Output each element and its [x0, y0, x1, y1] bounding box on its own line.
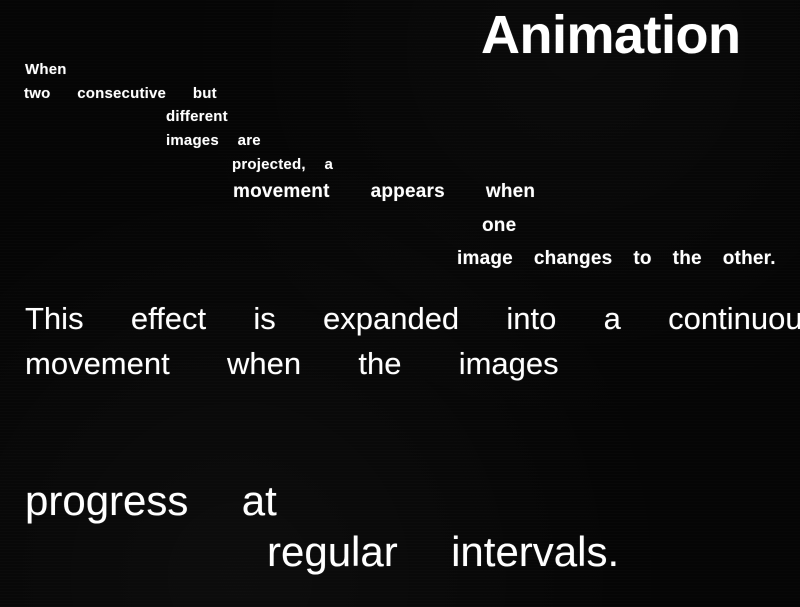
- text-line-image-changes-to-the-other: image changes to the other.: [457, 249, 776, 268]
- word-are: are: [238, 132, 261, 149]
- word-the: the: [673, 248, 702, 269]
- word-expanded: expanded: [323, 301, 459, 336]
- text-line-images-are: images are: [166, 133, 261, 148]
- text-line-regular-intervals: regular intervals.: [267, 531, 619, 573]
- word-when: when: [486, 181, 535, 202]
- word-at: at: [242, 477, 277, 524]
- word-projected: projected,: [232, 156, 306, 173]
- word-two: two: [24, 85, 50, 102]
- word-a: a: [324, 156, 333, 173]
- animation-slide: Animation When two consecutive but diffe…: [0, 0, 800, 607]
- word-progress: progress: [25, 477, 188, 524]
- word-consecutive: consecutive: [77, 85, 166, 102]
- word-different: different: [166, 108, 228, 125]
- word-appears: appears: [371, 181, 445, 202]
- page-title: Animation: [481, 8, 741, 62]
- text-line-progress-at: progress at: [25, 480, 277, 522]
- word-images: images: [166, 132, 219, 149]
- word-when: When: [25, 61, 67, 78]
- word-to: to: [633, 248, 651, 269]
- word-this: This: [25, 301, 84, 336]
- word-intervals: intervals.: [451, 528, 619, 575]
- word-regular: regular: [267, 528, 398, 575]
- word-the: the: [358, 346, 401, 381]
- text-line-when: When: [25, 62, 67, 77]
- text-line-this-effect-is-expanded: This effect is expanded into a continuou…: [25, 303, 800, 334]
- word-images: images: [459, 346, 559, 381]
- text-line-projected-a: projected, a: [232, 157, 333, 172]
- text-line-one: one: [482, 216, 516, 235]
- word-image: image: [457, 248, 513, 269]
- word-changes: changes: [534, 248, 613, 269]
- word-but: but: [193, 85, 217, 102]
- word-one: one: [482, 215, 516, 236]
- word-effect: effect: [131, 301, 206, 336]
- word-is: is: [253, 301, 275, 336]
- text-line-movement-appears-when: movement appears when: [233, 182, 535, 201]
- text-line-movement-when-the-images: movement when the images: [25, 348, 559, 379]
- word-a: a: [604, 301, 621, 336]
- word-into: into: [506, 301, 556, 336]
- word-other: other.: [723, 248, 776, 269]
- text-line-different: different: [166, 109, 228, 124]
- word-when: when: [227, 346, 301, 381]
- word-continuous: continuous: [668, 301, 800, 336]
- text-line-two-consecutive-but: two consecutive but: [24, 86, 217, 101]
- word-movement: movement: [233, 181, 330, 202]
- word-movement: movement: [25, 346, 170, 381]
